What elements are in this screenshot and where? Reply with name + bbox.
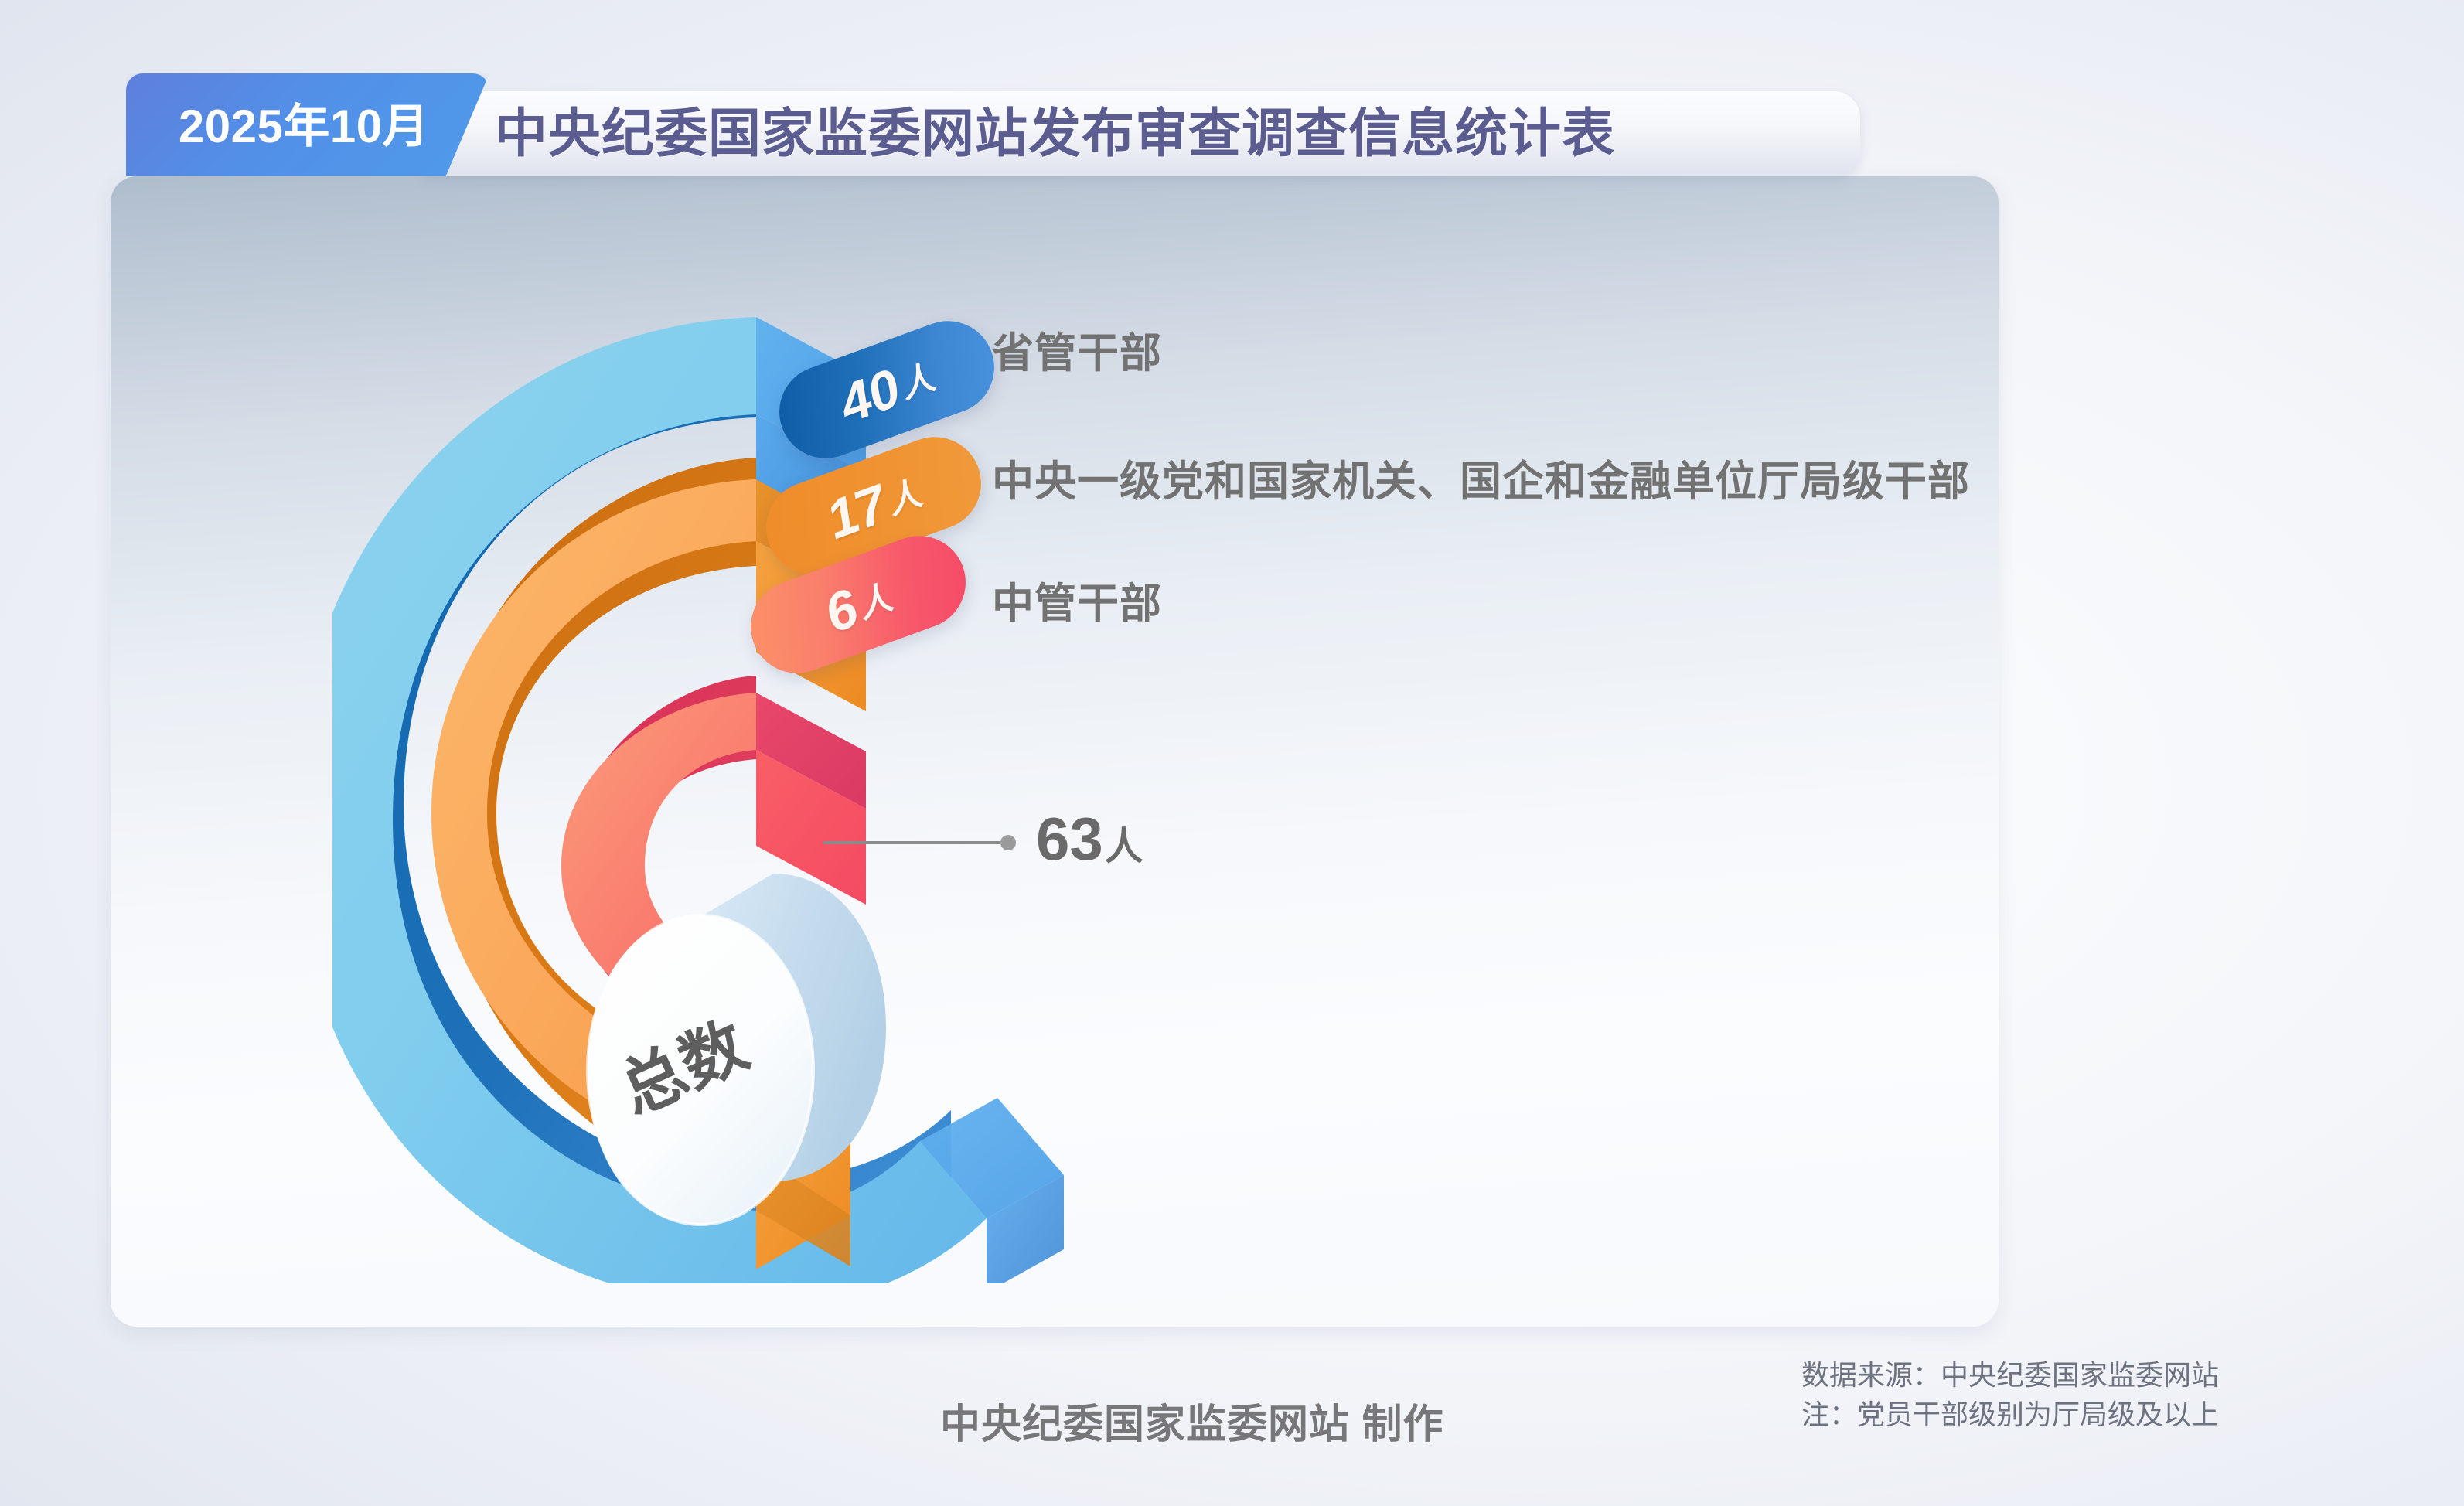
category-label-sheng-guan: 省管干部 bbox=[992, 319, 1162, 380]
total-unit: 人 bbox=[1105, 825, 1143, 868]
footnote-note: 注：党员干部级别为厅局级及以上 bbox=[1801, 1395, 2219, 1435]
total-number: 63 bbox=[1036, 805, 1103, 873]
date-badge-label: 2025年10月 bbox=[141, 73, 466, 176]
infographic-canvas: 中央纪委国家监委网站发布审查调查信息统计表 2025年10月 bbox=[0, 0, 2464, 1506]
page-title: 中央纪委国家监委网站发布审查调查信息统计表 bbox=[495, 94, 1615, 174]
total-leader-dot bbox=[1000, 835, 1016, 850]
header: 中央纪委国家监委网站发布审查调查信息统计表 2025年10月 bbox=[0, 0, 2464, 193]
category-label-zhong-guan: 中管干部 bbox=[992, 569, 1162, 630]
total-leader-line bbox=[823, 841, 1010, 844]
footnote-source: 数据来源：中央纪委国家监委网站 bbox=[1801, 1356, 2219, 1395]
total-value: 63人 bbox=[1036, 804, 1143, 874]
footer-credit: 中央纪委国家监委网站 制作 bbox=[940, 1392, 1443, 1450]
category-label-zhongyang-yiji: 中央一级党和国家机关、国企和金融单位厅局级干部 bbox=[992, 447, 1970, 508]
concentric-arc-chart: 总数 bbox=[332, 294, 1106, 1283]
footnotes: 数据来源：中央纪委国家监委网站 注：党员干部级别为厅局级及以上 bbox=[1801, 1356, 2219, 1435]
